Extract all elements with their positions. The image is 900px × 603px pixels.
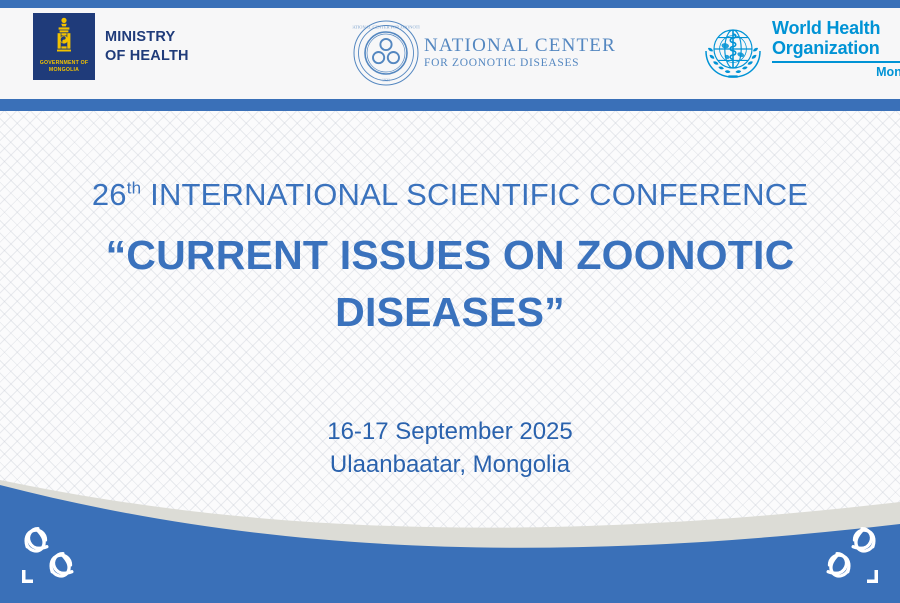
svg-text:1931: 1931	[382, 78, 390, 83]
who-divider	[772, 61, 900, 63]
conference-title-slide: GOVERNMENT OF MONGOLIA MINISTRY OF HEALT…	[0, 0, 900, 603]
title-block: 26th INTERNATIONAL SCIENTIFIC CONFERENCE…	[0, 172, 900, 341]
svg-text:NATIONAL CENTER FOR ZOONOTIC: NATIONAL CENTER FOR ZOONOTIC	[352, 24, 420, 29]
who-name: World Health Organization	[772, 18, 900, 58]
event-dates: 16-17 September 2025	[0, 415, 900, 448]
who-name-line2: Organization	[772, 38, 900, 58]
who-name-line1: World Health	[772, 18, 900, 38]
national-center-name-line2: FOR ZOONOTIC DISEASES	[424, 56, 616, 71]
ornament-bottom-left	[16, 520, 92, 592]
mongolia-government-crest: GOVERNMENT OF MONGOLIA	[33, 13, 95, 80]
conference-ordinal: 26	[92, 177, 127, 212]
conference-theme: “CURRENT ISSUES ON ZOONOTIC DISEASES”	[0, 227, 900, 341]
ministry-of-health-logo: GOVERNMENT OF MONGOLIA MINISTRY OF HEALT…	[33, 13, 189, 80]
bottom-wave-decoration	[0, 468, 900, 603]
corner-accent-mark	[22, 570, 33, 583]
who-wordmark: World Health Organization Mongolia	[772, 18, 900, 79]
crest-caption: GOVERNMENT OF MONGOLIA	[40, 60, 88, 74]
conference-ordinal-suffix: th	[127, 179, 142, 198]
who-emblem-icon	[700, 22, 766, 84]
who-logo: World Health Organization Mongolia	[700, 18, 900, 84]
who-country-label: Mongolia	[772, 65, 900, 79]
soyombo-emblem-icon	[47, 17, 81, 59]
corner-accent-mark	[867, 570, 878, 583]
ministry-name-line1: MINISTRY	[105, 28, 189, 47]
ministry-name-line2: OF HEALTH	[105, 47, 189, 66]
header-separator-bar	[0, 99, 900, 111]
triquetra-knot-icon	[808, 520, 884, 592]
crest-caption-line2: MONGOLIA	[40, 67, 88, 74]
national-center-zoonotic-diseases-logo: NATIONAL CENTER FOR ZOONOTIC 1931 NATION…	[352, 19, 616, 87]
national-center-name-line1: NATIONAL CENTER	[424, 35, 616, 56]
national-center-name: NATIONAL CENTER FOR ZOONOTIC DISEASES	[424, 35, 616, 71]
conference-title-text: INTERNATIONAL SCIENTIFIC CONFERENCE	[150, 177, 808, 212]
crest-caption-line1: GOVERNMENT OF	[40, 60, 88, 67]
ornament-bottom-right	[808, 520, 884, 592]
triquetra-knot-icon	[16, 520, 92, 592]
conference-title-line: 26th INTERNATIONAL SCIENTIFIC CONFERENCE	[0, 172, 900, 218]
biohazard-seal-icon: NATIONAL CENTER FOR ZOONOTIC 1931	[352, 19, 420, 87]
top-accent-bar	[0, 0, 900, 8]
ministry-name: MINISTRY OF HEALTH	[105, 28, 189, 66]
